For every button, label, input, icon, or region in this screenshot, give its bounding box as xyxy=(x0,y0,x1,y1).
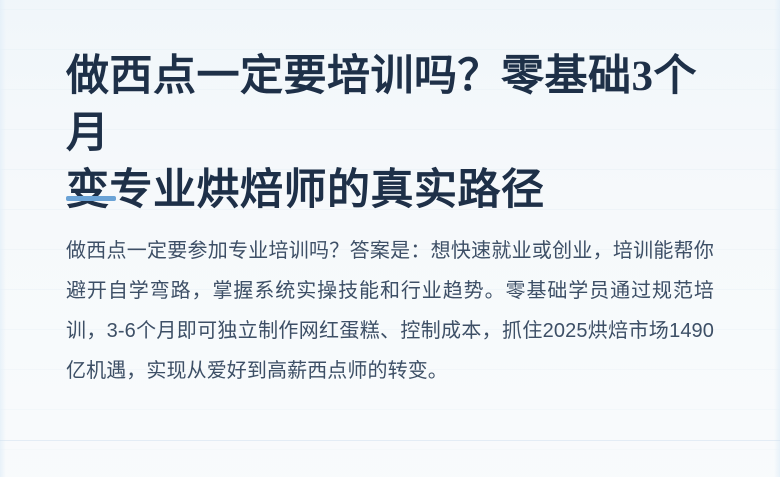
article-summary-text: 做西点一定要参加专业培训吗？答案是：想快速就业或创业，培训能帮你避开自学弯路，掌… xyxy=(66,231,714,391)
right-edge-fade xyxy=(774,0,780,477)
title-accent-bar xyxy=(66,196,116,201)
article-content: 做西点一定要培训吗？零基础3个月 变专业烘焙师的真实路径 做西点一定要参加专业培… xyxy=(66,0,714,477)
page-title: 做西点一定要培训吗？零基础3个月 变专业烘焙师的真实路径 xyxy=(66,48,714,219)
article-card: 做西点一定要培训吗？零基础3个月 变专业烘焙师的真实路径 做西点一定要参加专业培… xyxy=(0,0,780,477)
left-edge-fade xyxy=(0,0,6,477)
